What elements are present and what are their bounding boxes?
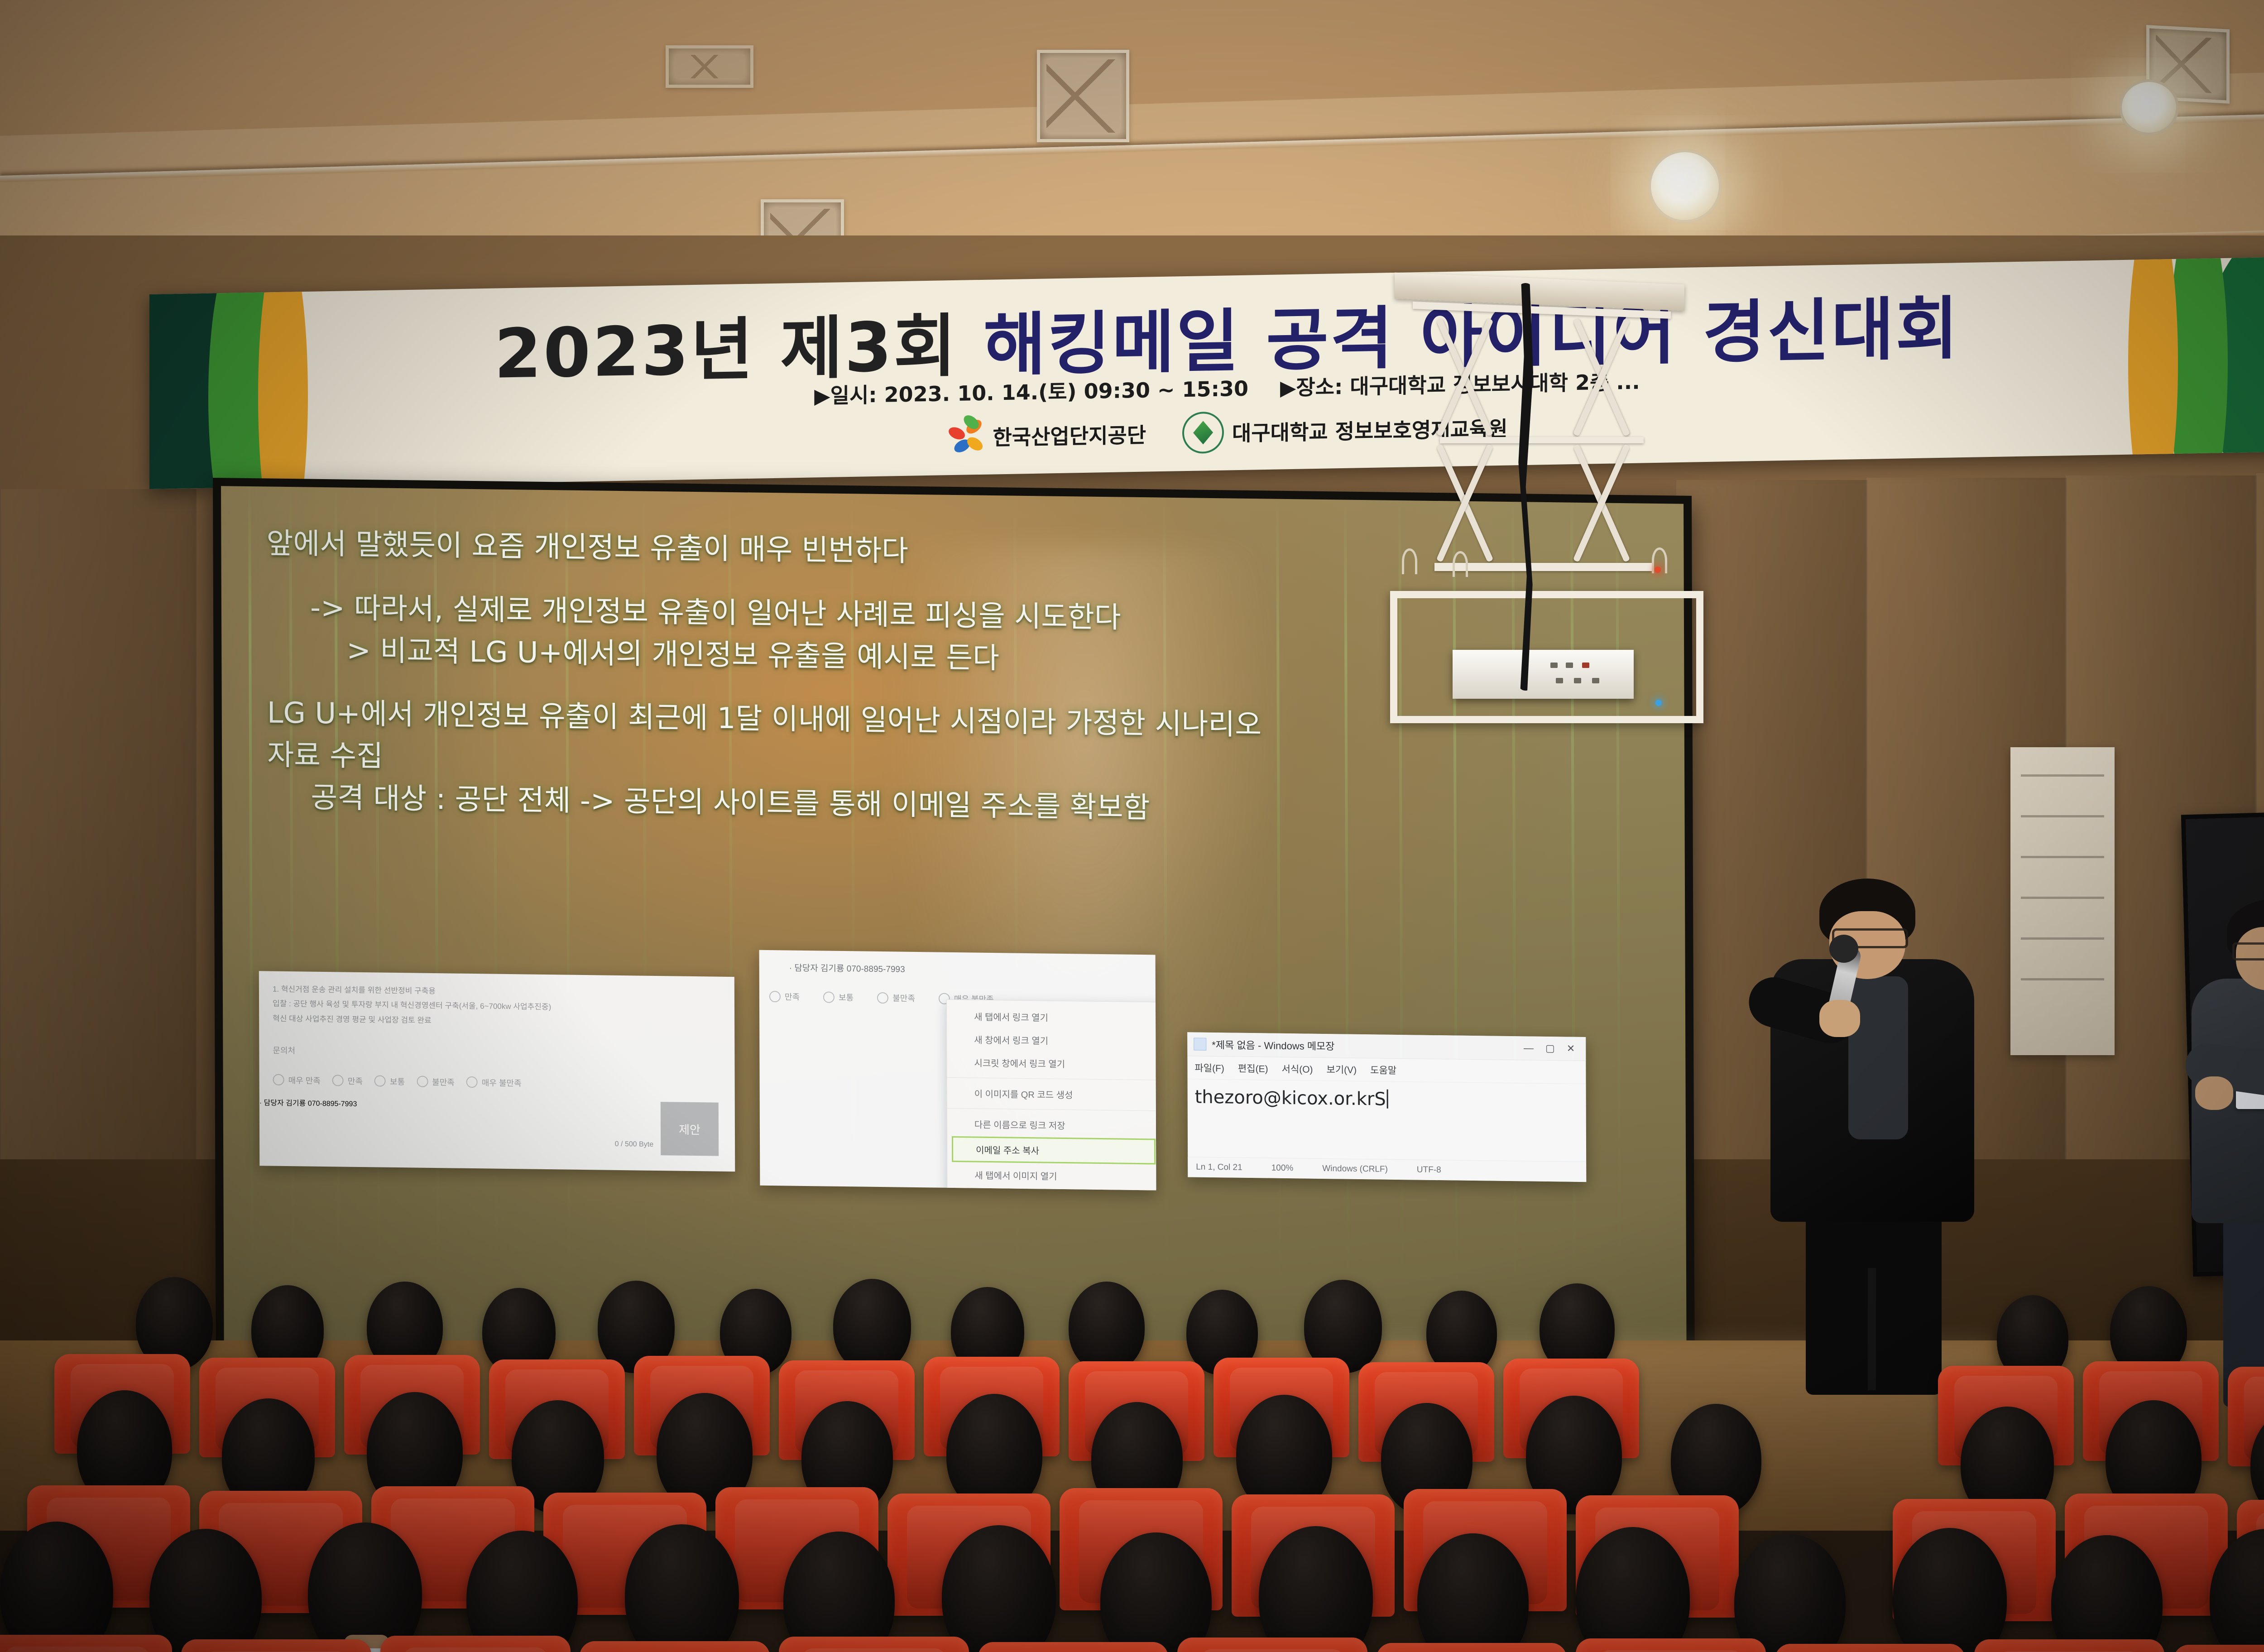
glasses-icon (2232, 942, 2264, 960)
close-button[interactable]: ✕ (1567, 1043, 1575, 1055)
submit-button[interactable]: 제안 (661, 1102, 719, 1156)
context-menu[interactable]: 새 탭에서 링크 열기 새 창에서 링크 열기 시크릿 창에서 링크 열기 이 … (946, 999, 1156, 1191)
radio-option[interactable]: 불만족 (417, 1076, 455, 1088)
context-menu-item[interactable]: 다른 이름으로 링크 저장 (947, 1112, 1156, 1138)
auditorium-seat (580, 1641, 770, 1652)
context-menu-item[interactable]: 새 창에서 링크 열기 (947, 1028, 1156, 1053)
auditorium-seat (1775, 1644, 1965, 1652)
auditorium-seat (181, 1639, 371, 1652)
browser-screenshot-window: · 담당자 김기룡 070-8895-7993 만족 보통 불만족 매우 불만족… (759, 950, 1156, 1191)
event-banner: 2023년 제3회 해킹메일 공격 아이디어 경신대회 ▶일시: 2023. 1… (149, 257, 2264, 489)
lift-status-led-red (1655, 567, 1661, 573)
notepad-app-icon (1194, 1037, 1206, 1050)
radio-option[interactable]: 보통 (823, 991, 854, 1003)
radio-option[interactable]: 매우 만족 (273, 1074, 321, 1086)
kicox-logo-label: 한국산업단지공단 (993, 419, 1146, 451)
char-counter: 0 / 500 Byte (615, 1140, 653, 1149)
auditorium-seat (1576, 1638, 1766, 1652)
radio-option[interactable]: 만족 (332, 1075, 363, 1087)
maximize-button[interactable]: ▢ (1545, 1042, 1555, 1054)
auditorium-seat (978, 1642, 1168, 1652)
auditorium-seat (1974, 1639, 2164, 1652)
notepad-text-area[interactable]: thezoro@kicox.or.krS (1188, 1079, 1586, 1119)
lift-hook-icon (1453, 551, 1468, 577)
assistant-hand (2195, 1076, 2233, 1110)
auditorium-seat (2173, 1645, 2264, 1652)
context-menu-item[interactable]: 새 탭에서 링크 열기 (947, 1004, 1156, 1030)
lift-hook-icon (1402, 548, 1417, 574)
presenter-hand (1819, 1000, 1860, 1037)
projector (1453, 650, 1634, 699)
presenter-shirt (1848, 976, 1908, 1139)
audience-head (1069, 1282, 1145, 1372)
zoom-level: 100% (1271, 1163, 1294, 1174)
encoding: UTF-8 (1417, 1165, 1441, 1175)
radio-option[interactable]: 매우 불만족 (466, 1076, 522, 1089)
context-menu-item-copy-email[interactable]: 이메일 주소 복사 (952, 1136, 1156, 1165)
audience-head (1734, 1534, 1846, 1652)
context-menu-item[interactable]: 시크릿 창에서 링크 열기 (947, 1051, 1156, 1076)
banner-date: ▶일시: 2023. 10. 14.(토) 09:30 ~ 15:30 (814, 376, 1248, 408)
kicox-logo: 한국산업단지공단 (946, 415, 1146, 456)
auditorium-seat (1177, 1638, 1367, 1652)
menu-help[interactable]: 도움말 (1370, 1063, 1396, 1077)
notepad-content: thezoro@kicox.or.krS (1195, 1087, 1386, 1110)
lift-status-led-blue (1655, 700, 1662, 706)
menu-file[interactable]: 파일(F) (1194, 1061, 1224, 1075)
radio-option[interactable]: 불만족 (877, 992, 915, 1004)
satisfaction-radio-group[interactable]: 매우 만족 만족 보통 불만족 매우 불만족 (273, 1074, 721, 1091)
notepad-window: *제목 없음 - Windows 메모장 — ▢ ✕ 파일(F) 편집(E) 서… (1187, 1032, 1586, 1182)
ceiling-downlight-icon (2119, 79, 2179, 135)
audience-section (0, 1277, 2264, 1652)
projector-lift-assembly (1386, 279, 1703, 727)
ceiling-vent-icon (666, 45, 753, 88)
daegu-univ-emblem-icon (1182, 412, 1224, 454)
form-screenshot-window: 1. 혁신거점 운송 관리 설치를 위한 선반정비 구축용 입찰 : 공단 행사… (259, 971, 735, 1172)
notepad-statusbar: Ln 1, Col 21 100% Windows (CRLF) UTF-8 (1188, 1157, 1586, 1182)
auditorium-seat (779, 1637, 969, 1652)
air-conditioner-unit (2010, 747, 2115, 1055)
auditorium-photo: 2023년 제3회 해킹메일 공격 아이디어 경신대회 ▶일시: 2023. 1… (0, 0, 2264, 1652)
kicox-pinwheel-icon (946, 418, 984, 456)
auditorium-seat (380, 1636, 571, 1652)
menu-view[interactable]: 보기(V) (1326, 1062, 1357, 1076)
line-ending: Windows (CRLF) (1322, 1164, 1388, 1175)
radio-option[interactable]: 만족 (769, 990, 800, 1003)
menu-format[interactable]: 서식(O) (1281, 1062, 1313, 1076)
audience-head (833, 1279, 911, 1372)
context-menu-item[interactable]: 이 이미지를 QR 코드 생성 (947, 1081, 1156, 1107)
lift-mid-bar (1440, 437, 1644, 443)
minimize-button[interactable]: — (1524, 1042, 1534, 1054)
cursor-position: Ln 1, Col 21 (1196, 1162, 1242, 1173)
form-document: 1. 혁신거점 운송 관리 설치를 위한 선반정비 구축용 입찰 : 공단 행사… (259, 971, 735, 1102)
notepad-title: *제목 없음 - Windows 메모장 (1212, 1037, 1524, 1055)
ceiling-downlight-icon (1648, 149, 1722, 223)
microphone-head-icon (1829, 935, 1858, 963)
menu-edit[interactable]: 편집(E) (1238, 1061, 1268, 1076)
context-menu-item[interactable]: 새 탭에서 이미지 열기 (947, 1163, 1156, 1189)
ceiling-vent-icon (1037, 50, 1129, 142)
radio-option[interactable]: 보통 (374, 1075, 405, 1087)
auditorium-seat (1377, 1643, 1567, 1652)
form-section-label: 문의처 (273, 1044, 721, 1061)
text-caret (1387, 1090, 1388, 1109)
auditorium-seat (0, 1635, 172, 1652)
